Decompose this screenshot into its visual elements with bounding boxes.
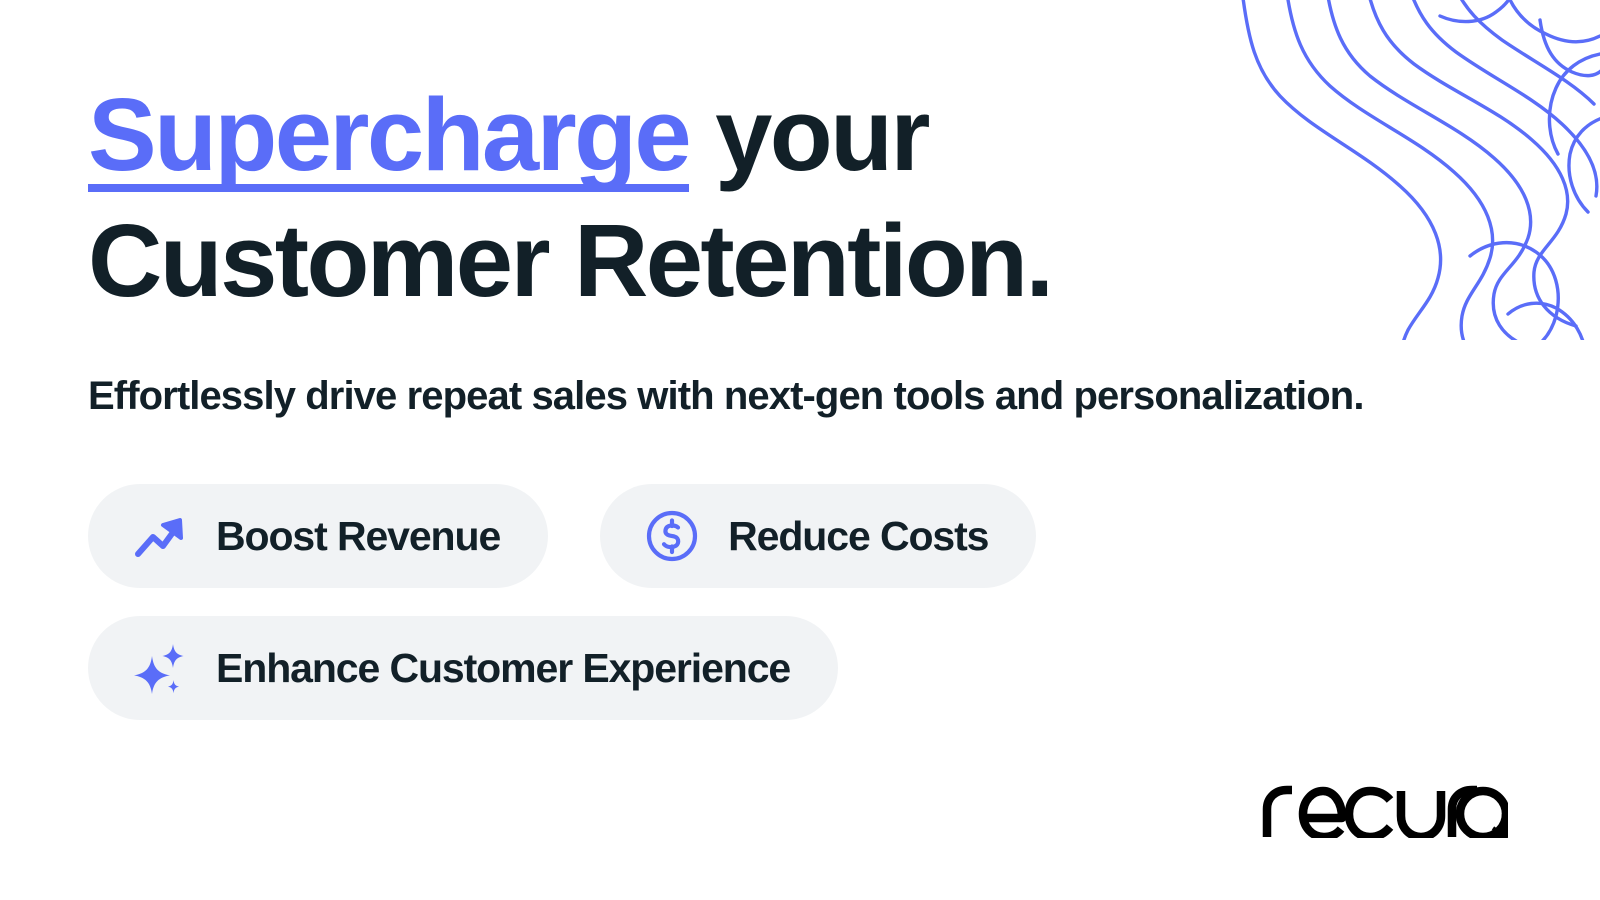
recura-wordmark-svg	[1262, 776, 1508, 838]
hero-subheadline: Effortlessly drive repeat sales with nex…	[88, 367, 1398, 426]
feature-pill-label: Boost Revenue	[216, 513, 500, 560]
headline-line2: Customer Retention.	[88, 198, 1448, 324]
sparkles-icon	[132, 640, 188, 696]
headline-line1-rest: your	[689, 77, 928, 192]
trending-up-icon	[132, 508, 188, 564]
brand-name-text: recura	[1262, 838, 1263, 839]
hero-section: Supercharge your Customer Retention. Eff…	[88, 72, 1448, 720]
feature-pill-label: Reduce Costs	[728, 513, 988, 560]
feature-pill-boost-revenue[interactable]: Boost Revenue	[88, 484, 548, 588]
feature-pill-label: Enhance Customer Experience	[216, 645, 790, 692]
feature-pill-row-2: Enhance Customer Experience	[88, 616, 1448, 720]
feature-pill-enhance-customer-experience[interactable]: Enhance Customer Experience	[88, 616, 838, 720]
dollar-circle-icon	[644, 508, 700, 564]
feature-pill-row-1: Boost Revenue Reduce Costs	[88, 484, 1448, 588]
feature-pill-group: Boost Revenue Reduce Costs	[88, 484, 1448, 720]
brand-logo-recura: recura	[1262, 776, 1508, 838]
feature-pill-reduce-costs[interactable]: Reduce Costs	[600, 484, 1036, 588]
page-title: Supercharge your Customer Retention.	[88, 72, 1448, 323]
headline-accent-word: Supercharge	[88, 72, 689, 198]
